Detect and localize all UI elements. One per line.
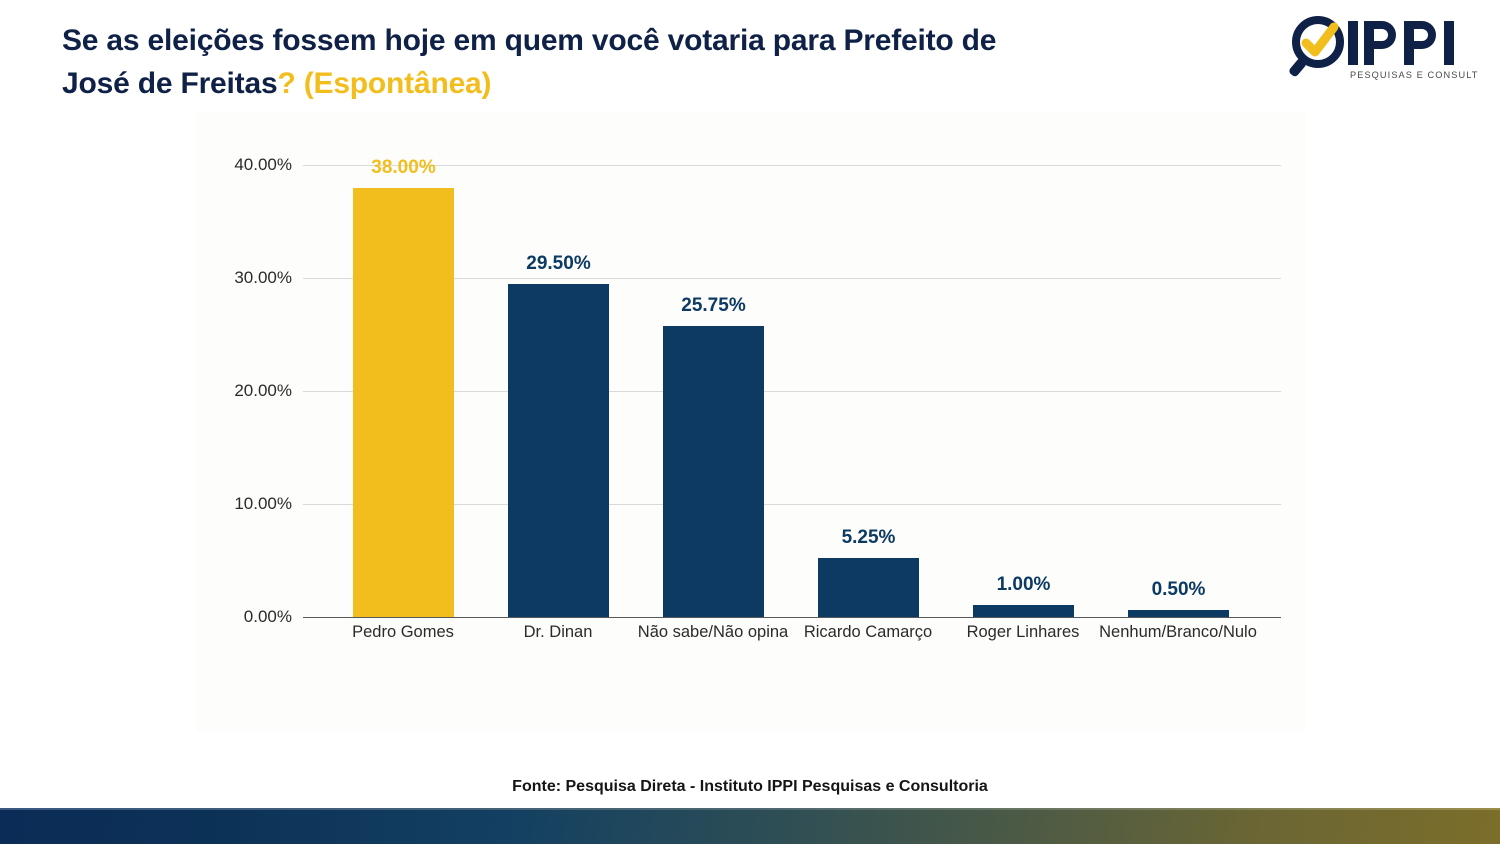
x-tick-label-nenhum-branco-nulo: Nenhum/Branco/Nulo: [1099, 623, 1257, 642]
bar-value-nenhum-branco-nulo: 0.50%: [1152, 579, 1206, 601]
logo-wordmark: [1348, 21, 1454, 65]
bar-rect-ricardo-camarco[interactable]: [818, 558, 919, 617]
x-tick-label-pedro-gomes: Pedro Gomes: [352, 623, 454, 642]
bar-ricardo-camarco[interactable]: 5.25%: [818, 558, 919, 617]
bottom-accent-bar: [0, 810, 1500, 844]
bar-value-roger-linhares: 1.00%: [997, 574, 1051, 596]
bar-nao-sabe-nao-opina[interactable]: 25.75%: [663, 326, 764, 617]
slide-canvas: Se as eleições fossem hoje em quem você …: [0, 0, 1500, 844]
x-tick-label-dr-dinan: Dr. Dinan: [524, 623, 593, 642]
page-title: Se as eleições fossem hoje em quem você …: [62, 20, 1262, 105]
bar-roger-linhares[interactable]: 1.00%: [973, 605, 1074, 617]
bar-value-nao-sabe-nao-opina: 25.75%: [681, 295, 745, 317]
logo-tagline: PESQUISAS E CONSULTORIA: [1350, 70, 1478, 80]
bar-dr-dinan[interactable]: 29.50%: [508, 284, 609, 617]
bar-rect-nenhum-branco-nulo[interactable]: [1128, 610, 1229, 617]
bar-pedro-gomes[interactable]: 38.00%: [353, 188, 454, 617]
page-title-accent: ? (Espontânea): [277, 67, 491, 100]
bar-series: 38.00% Pedro Gomes 29.50% Dr. Dinan 25.7…: [196, 112, 1306, 732]
ippi-logo: PESQUISAS E CONSULTORIA: [1282, 14, 1478, 84]
bar-nenhum-branco-nulo[interactable]: 0.50%: [1128, 610, 1229, 617]
bar-value-pedro-gomes: 38.00%: [371, 157, 435, 179]
page-title-line1: Se as eleições fossem hoje em quem você …: [62, 24, 996, 57]
bar-rect-roger-linhares[interactable]: [973, 605, 1074, 617]
x-tick-label-roger-linhares: Roger Linhares: [967, 623, 1080, 642]
page-title-line2: José de Freitas: [62, 67, 277, 100]
x-tick-label-nao-sabe-nao-opina: Não sabe/Não opina: [638, 623, 788, 642]
bar-rect-pedro-gomes[interactable]: [353, 188, 454, 617]
slide-header: Se as eleições fossem hoje em quem você …: [0, 0, 1500, 112]
bar-chart: 40.00% 30.00% 20.00% 10.00% 0.00% 38.00%…: [196, 112, 1306, 732]
bar-rect-dr-dinan[interactable]: [508, 284, 609, 617]
bar-rect-nao-sabe-nao-opina[interactable]: [663, 326, 764, 617]
source-note: Fonte: Pesquisa Direta - Instituto IPPI …: [0, 778, 1500, 796]
bar-value-dr-dinan: 29.50%: [526, 253, 590, 275]
bar-value-ricardo-camarco: 5.25%: [842, 527, 896, 549]
magnifier-check-icon: [1288, 20, 1340, 78]
chart-panel: 40.00% 30.00% 20.00% 10.00% 0.00% 38.00%…: [196, 112, 1306, 732]
x-tick-label-ricardo-camarco: Ricardo Camarço: [804, 623, 932, 642]
